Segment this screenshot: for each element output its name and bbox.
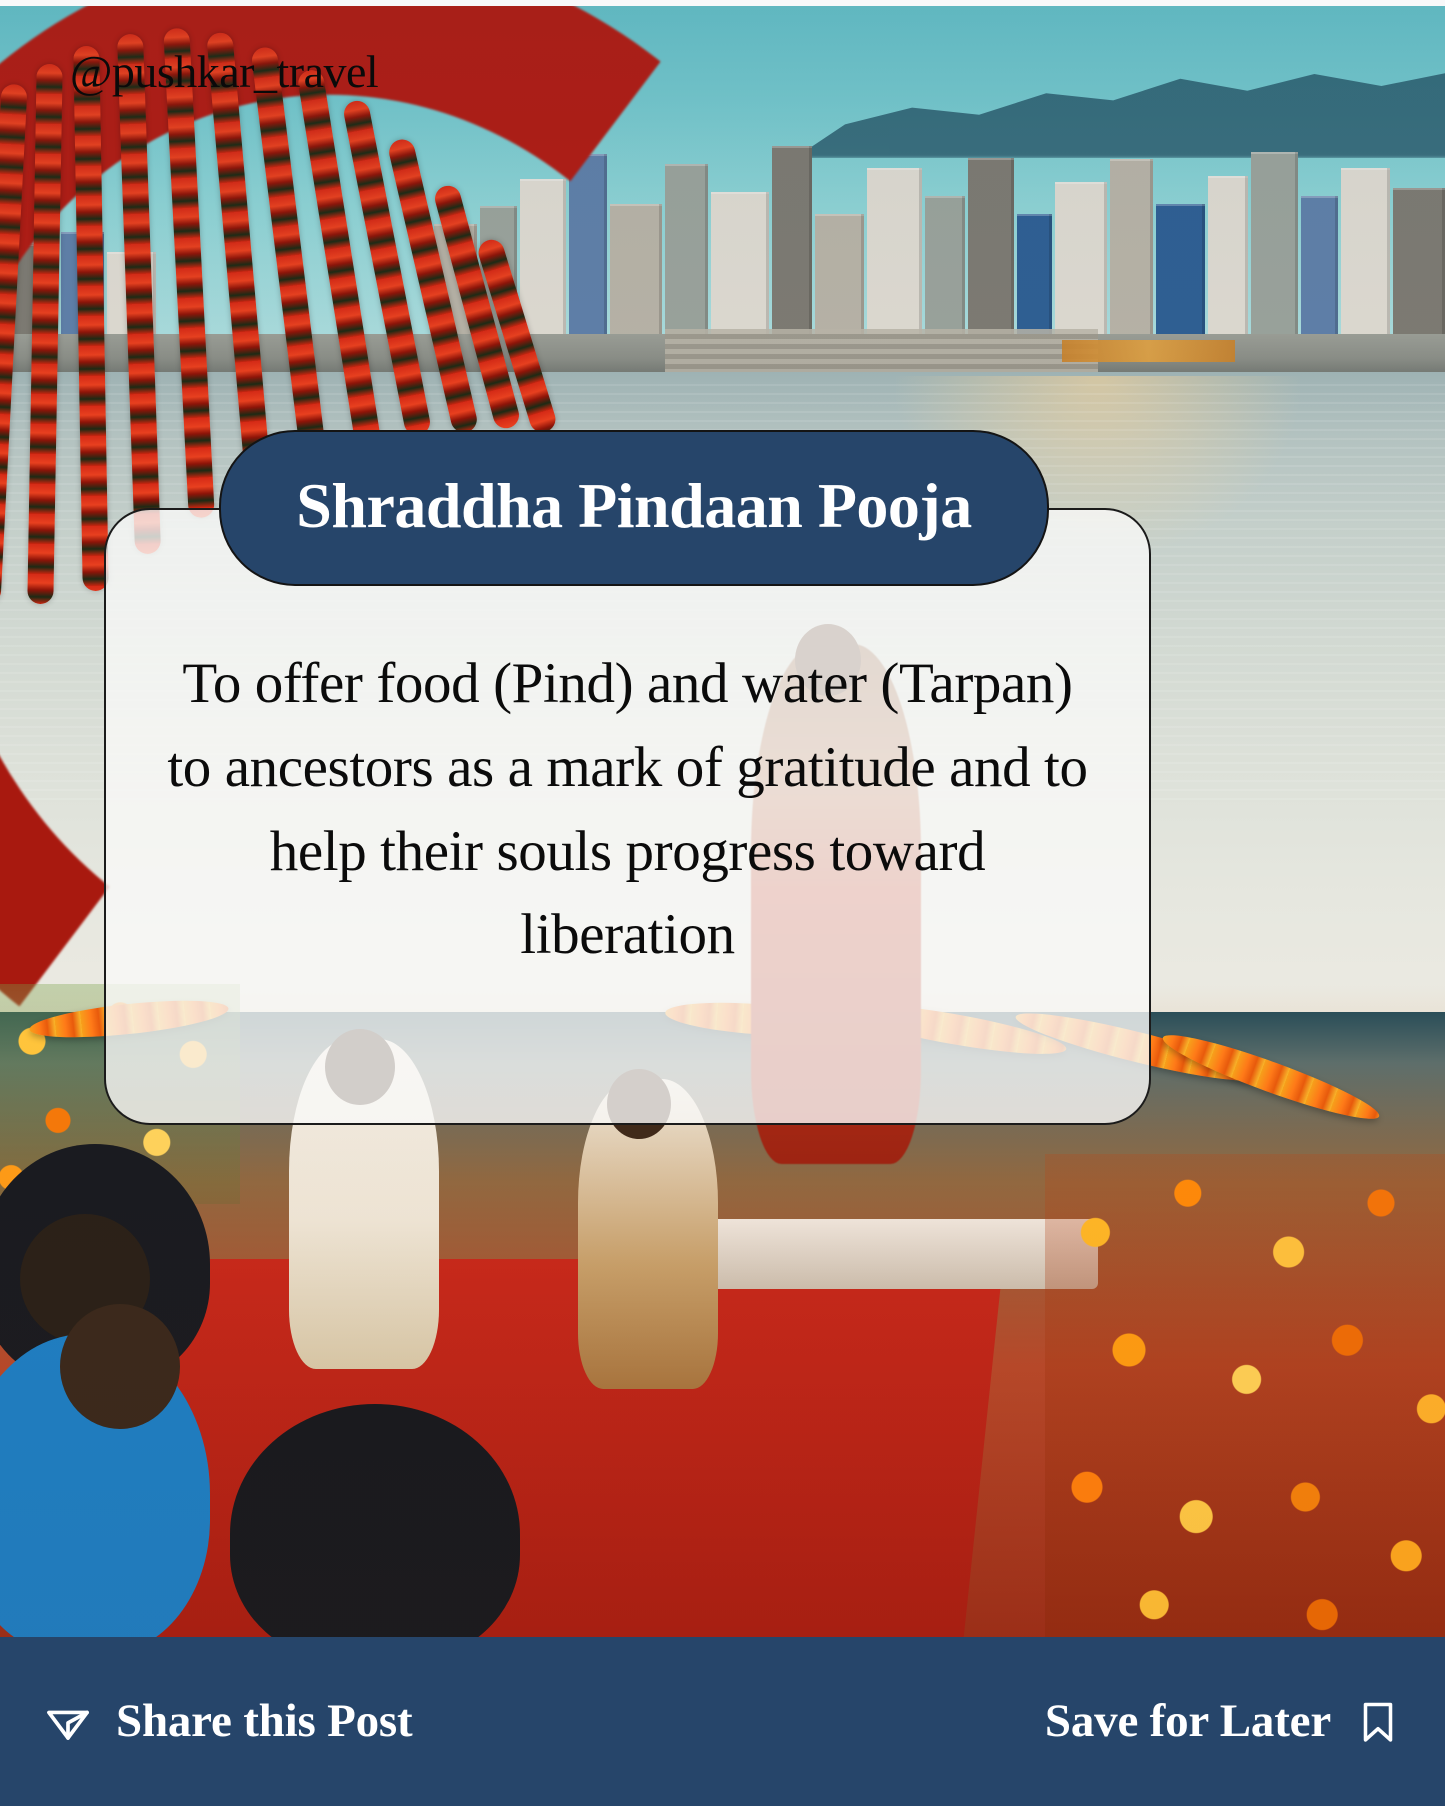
save-label: Save for Later [1045, 1698, 1331, 1745]
crowd-head-2 [60, 1304, 180, 1429]
card-body-text: To offer food (Pind) and water (Tarpan) … [164, 642, 1091, 977]
post-action-bar: Share this Post Save for Later [0, 1637, 1445, 1806]
marigold-garland-bank-right [1045, 1154, 1445, 1637]
social-post-card: @pushkar_travel To offer food (Pind) and… [0, 0, 1445, 1806]
send-icon [42, 1696, 94, 1748]
top-edge-sliver [0, 0, 1445, 6]
page-title: Shraddha Pindaan Pooja [296, 474, 971, 542]
red-carpet [66, 1259, 1003, 1637]
title-badge: Shraddha Pindaan Pooja [219, 430, 1049, 586]
account-handle-watermark: @pushkar_travel [70, 45, 378, 98]
share-this-post-button[interactable]: Share this Post [42, 1696, 412, 1748]
share-label: Share this Post [116, 1698, 412, 1745]
save-for-later-button[interactable]: Save for Later [1045, 1697, 1403, 1747]
ghat-signboard [1062, 340, 1235, 362]
content-card: To offer food (Pind) and water (Tarpan) … [104, 508, 1151, 1125]
ritual-dais [665, 1219, 1099, 1289]
bookmark-icon [1353, 1697, 1403, 1747]
